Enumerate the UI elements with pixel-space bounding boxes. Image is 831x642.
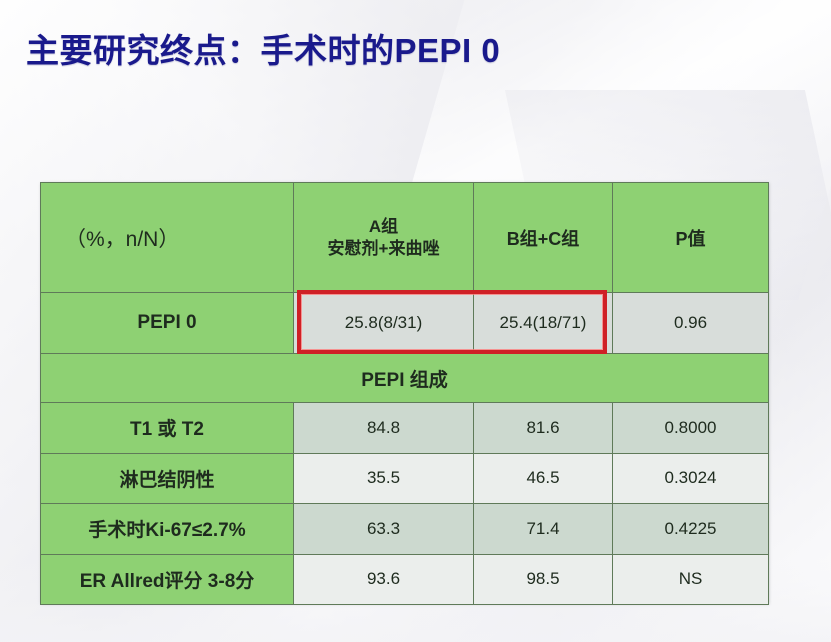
results-table: （%，n/N） A组 安慰剂+来曲唑 B组+C组 P值 PEPI 0 25.8(… [40,182,769,605]
cell-pvalue: 0.8000 [613,403,769,454]
cell-pepi0-group-a: 25.8(8/31) [294,293,474,354]
table-row: 淋巴结阴性 35.5 46.5 0.3024 [41,453,769,504]
cell-group-a: 93.6 [294,554,474,605]
cell-group-bc: 81.6 [474,403,613,454]
header-cell-group-bc: B组+C组 [474,183,613,293]
cell-pvalue: 0.4225 [613,504,769,555]
section-band-pepi-components: PEPI 组成 [41,354,769,403]
cell-pvalue: NS [613,554,769,605]
results-table-container: （%，n/N） A组 安慰剂+来曲唑 B组+C组 P值 PEPI 0 25.8(… [40,182,768,603]
table-header-row: （%，n/N） A组 安慰剂+来曲唑 B组+C组 P值 [41,183,769,293]
table-row: ER Allred评分 3-8分 93.6 98.5 NS [41,554,769,605]
row-label: ER Allred评分 3-8分 [41,554,294,605]
cell-group-a: 63.3 [294,504,474,555]
row-label: 淋巴结阴性 [41,453,294,504]
cell-pepi0-group-bc: 25.4(18/71) [474,293,613,354]
cell-group-bc: 46.5 [474,453,613,504]
header-group-a-line1: A组 [294,216,473,237]
cell-group-a: 84.8 [294,403,474,454]
row-label: T1 或 T2 [41,403,294,454]
header-group-a-line2: 安慰剂+来曲唑 [294,238,473,259]
table-row-pepi0: PEPI 0 25.8(8/31) 25.4(18/71) 0.96 [41,293,769,354]
table-row: T1 或 T2 84.8 81.6 0.8000 [41,403,769,454]
cell-pvalue: 0.3024 [613,453,769,504]
header-cell-group-a: A组 安慰剂+来曲唑 [294,183,474,293]
cell-group-a: 35.5 [294,453,474,504]
header-cell-metric: （%，n/N） [41,183,294,293]
slide-title: 主要研究终点：手术时的PEPI 0 [26,24,500,72]
row-label: 手术时Ki-67≤2.7% [41,504,294,555]
table-row: 手术时Ki-67≤2.7% 63.3 71.4 0.4225 [41,504,769,555]
cell-pepi0-pvalue: 0.96 [613,293,769,354]
table-section-band-row: PEPI 组成 [41,354,769,403]
cell-group-bc: 71.4 [474,504,613,555]
row-label-pepi0: PEPI 0 [41,293,294,354]
cell-group-bc: 98.5 [474,554,613,605]
header-cell-pvalue: P值 [613,183,769,293]
